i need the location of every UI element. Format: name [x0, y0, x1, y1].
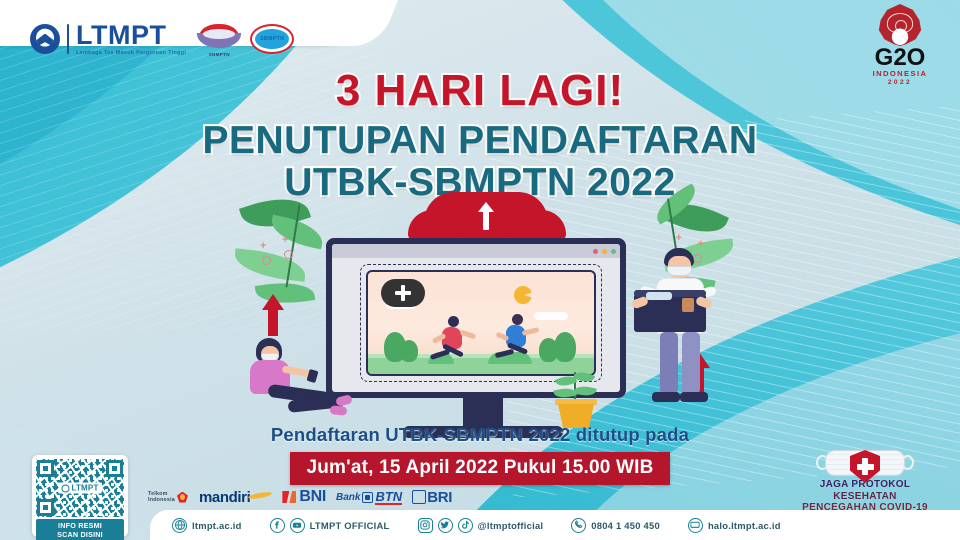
brand-name: LTMPT	[76, 22, 186, 49]
telkom-mark-icon	[176, 491, 189, 504]
potted-plant	[552, 366, 598, 428]
kemdikbud-logo-icon	[30, 24, 60, 54]
man-carrying-box-figure	[622, 248, 740, 426]
globe-icon	[172, 518, 187, 533]
footer-website[interactable]: ltmpt.ac.id	[192, 520, 242, 531]
sbmptn-logo-icon: SBMPTN	[250, 22, 294, 56]
footer-phone[interactable]: 0804 1 450 450	[591, 520, 660, 531]
headline-countdown: 3 HARI LAGI!	[0, 66, 960, 116]
photo-selection-frame: +	[360, 264, 602, 382]
btn-mark-icon	[362, 492, 373, 503]
qr-caption: INFO RESMI SCAN DISINI	[36, 519, 124, 540]
qr-caption-line1: INFO RESMI	[36, 521, 124, 530]
helpdesk-icon	[688, 518, 703, 533]
footer-website-group[interactable]: ltmpt.ac.id	[172, 518, 242, 533]
runner-figure	[498, 314, 542, 362]
footer-helpdesk-group[interactable]: halo.ltmpt.ac.id	[688, 518, 781, 533]
footer-social-handle-group[interactable]: @ltmptofficial	[418, 518, 544, 533]
brand-subtitle: Lembaga Tes Masuk Perguruan Tinggi	[76, 51, 186, 56]
header-logos: LTMPT Lembaga Tes Masuk Perguruan Tinggi…	[30, 16, 400, 62]
sun-icon	[514, 286, 532, 304]
bank-logo-btn: Bank BTN	[336, 490, 402, 505]
btn-word: Bank	[336, 492, 360, 503]
headline-block: 3 HARI LAGI! PENUTUPAN PENDAFTARAN UTBK-…	[0, 66, 960, 204]
qr-inner-label: LTMPT	[71, 484, 98, 493]
bni-label: BNI	[299, 488, 326, 506]
ltmpt-brand: LTMPT Lembaga Tes Masuk Perguruan Tinggi	[76, 22, 186, 56]
deadline-badge: Jum'at, 15 April 2022 Pukul 15.00 WIB	[290, 452, 669, 485]
main-illustration: + + + +	[248, 190, 718, 435]
telkom-line2: Indonesia	[148, 497, 175, 503]
mandiri-wave-icon	[248, 491, 272, 503]
snmptn-label: SNMPTN	[195, 52, 243, 57]
bri-mark-icon	[412, 490, 426, 504]
qr-center-logo: LTMPT	[58, 483, 101, 494]
header-divider	[67, 24, 69, 54]
arrow-up-icon	[262, 294, 284, 336]
poster-canvas: LTMPT Lembaga Tes Masuk Perguruan Tinggi…	[0, 0, 960, 540]
bni-mark-icon	[282, 490, 297, 504]
footer-phone-group[interactable]: 0804 1 450 450	[571, 518, 660, 533]
browser-titlebar	[332, 244, 620, 258]
covid-protocol-badge: JAGA PROTOKOL KESEHATAN PENCEGAHAN COVID…	[790, 448, 940, 514]
twitter-icon[interactable]	[438, 518, 453, 533]
instagram-icon[interactable]	[418, 518, 433, 533]
snmptn-logo-icon: SNMPTN	[195, 22, 243, 56]
footer-social-official[interactable]: LTMPT OFFICIAL	[310, 520, 390, 531]
headline-line-2: PENUTUPAN PENDAFTARAN	[0, 120, 960, 162]
upload-cloud-icon	[424, 192, 548, 240]
sbmptn-label: SBMPTN	[250, 36, 294, 42]
youtube-icon[interactable]	[290, 518, 305, 533]
bank-logo-bri: BRI	[412, 489, 452, 506]
runner-figure	[434, 316, 478, 364]
footer-bar: ltmpt.ac.id LTMPT OFFICIAL	[150, 510, 960, 540]
bank-partners-row: Telkom Indonesia mandiri BNI Bank BTN BR…	[148, 486, 478, 508]
qr-code-card[interactable]: LTMPT INFO RESMI SCAN DISINI	[32, 455, 128, 537]
phone-icon	[571, 518, 586, 533]
qr-code-image[interactable]: LTMPT	[36, 459, 124, 517]
announcement-text: Pendaftaran UTBK-SBMPTN 2022 ditutup pad…	[0, 424, 960, 446]
face-mask-icon	[816, 448, 914, 478]
btn-label: BTN	[375, 490, 402, 505]
bank-logo-telkom: Telkom Indonesia	[148, 491, 189, 504]
g20-ornament-icon	[877, 4, 923, 46]
footer-social-official-group[interactable]: LTMPT OFFICIAL	[270, 518, 390, 533]
bank-logo-mandiri: mandiri	[199, 489, 272, 506]
bri-label: BRI	[427, 489, 452, 506]
facebook-icon[interactable]	[270, 518, 285, 533]
bank-logo-bni: BNI	[282, 488, 326, 506]
add-photo-button[interactable]: +	[381, 279, 425, 307]
woman-sitting-figure	[230, 338, 350, 430]
covid-line2: KESEHATAN	[790, 491, 940, 503]
covid-text: JAGA PROTOKOL KESEHATAN PENCEGAHAN COVID…	[790, 479, 940, 514]
mandiri-label: mandiri	[199, 489, 250, 506]
tiktok-icon[interactable]	[458, 518, 473, 533]
qr-caption-line2: SCAN DISINI	[36, 530, 124, 539]
footer-social-handle[interactable]: @ltmptofficial	[478, 520, 544, 531]
footer-helpdesk[interactable]: halo.ltmpt.ac.id	[708, 520, 781, 531]
